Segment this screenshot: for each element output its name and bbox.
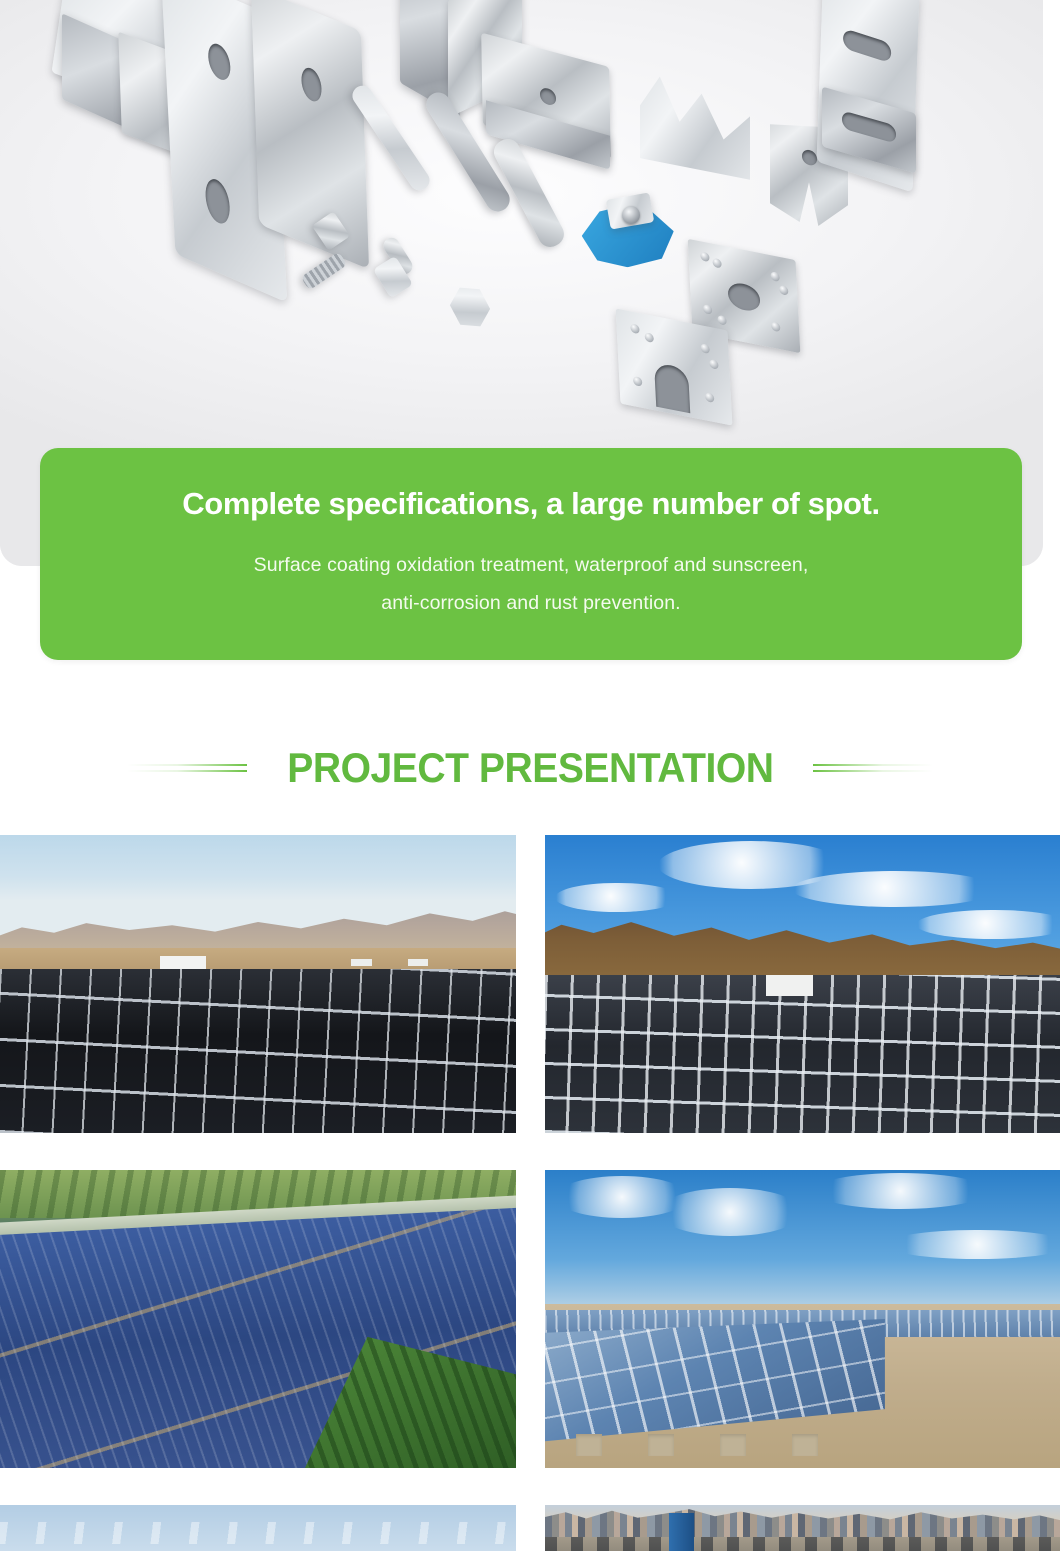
hero-section: Complete specifications, a large number … bbox=[0, 0, 1060, 670]
rivet-icon bbox=[717, 315, 726, 326]
rivet-icon bbox=[709, 359, 718, 370]
rivet-icon bbox=[630, 323, 639, 334]
hex-bolt-head bbox=[445, 280, 496, 335]
feature-highlight-card: Complete specifications, a large number … bbox=[40, 448, 1022, 660]
page-title: PROJECT PRESENTATION bbox=[287, 744, 773, 792]
rivet-icon bbox=[700, 343, 709, 354]
project-photo-ground-mount-rows[interactable] bbox=[545, 1170, 1060, 1468]
rivet-icon bbox=[712, 258, 721, 269]
project-photo-plateau-solar-farm[interactable] bbox=[545, 835, 1060, 1133]
heading-flourish-right bbox=[813, 759, 933, 777]
rivet-icon bbox=[779, 285, 788, 296]
rivet-icon bbox=[633, 376, 642, 387]
project-photo-aerial-blue-array[interactable] bbox=[0, 1170, 516, 1468]
rivet-icon bbox=[771, 321, 780, 332]
rivet-icon bbox=[705, 392, 714, 403]
project-photo-desert-solar-farm[interactable] bbox=[0, 835, 516, 1133]
heading-flourish-left bbox=[127, 759, 247, 777]
mounting-plate-slot-hole bbox=[654, 362, 690, 413]
project-photo-city-industrial-partial[interactable] bbox=[545, 1505, 1060, 1551]
product-detail-page: Complete specifications, a large number … bbox=[0, 0, 1060, 1551]
mid-clamp-hole bbox=[540, 86, 556, 106]
rivet-icon bbox=[700, 251, 709, 262]
l-bracket-left-hole-bottom bbox=[205, 175, 231, 228]
feature-card-title: Complete specifications, a large number … bbox=[182, 486, 879, 522]
rivet-icon bbox=[645, 332, 654, 343]
l-bracket-right-hole bbox=[301, 64, 322, 105]
mounting-plate-round-hole bbox=[727, 281, 760, 314]
roof-hook-stud bbox=[622, 206, 640, 224]
tall-bracket-slot bbox=[843, 28, 892, 63]
project-photo-sky-partial[interactable] bbox=[0, 1505, 516, 1551]
feature-card-subtitle-line-2: anti-corrosion and rust prevention. bbox=[381, 584, 680, 622]
project-photo-grid bbox=[0, 835, 1060, 1551]
tall-bracket-base-slot bbox=[842, 110, 896, 143]
project-section-heading: PROJECT PRESENTATION bbox=[0, 718, 1060, 818]
l-bracket-left-hole-top bbox=[207, 40, 231, 84]
end-clamp-hole bbox=[802, 149, 817, 167]
rivet-icon bbox=[703, 304, 712, 315]
feature-card-subtitle-line-1: Surface coating oxidation treatment, wat… bbox=[254, 546, 809, 584]
anchor-bolt-thread-1 bbox=[300, 252, 347, 291]
rivet-icon bbox=[770, 271, 779, 282]
w-clamp bbox=[640, 70, 750, 194]
